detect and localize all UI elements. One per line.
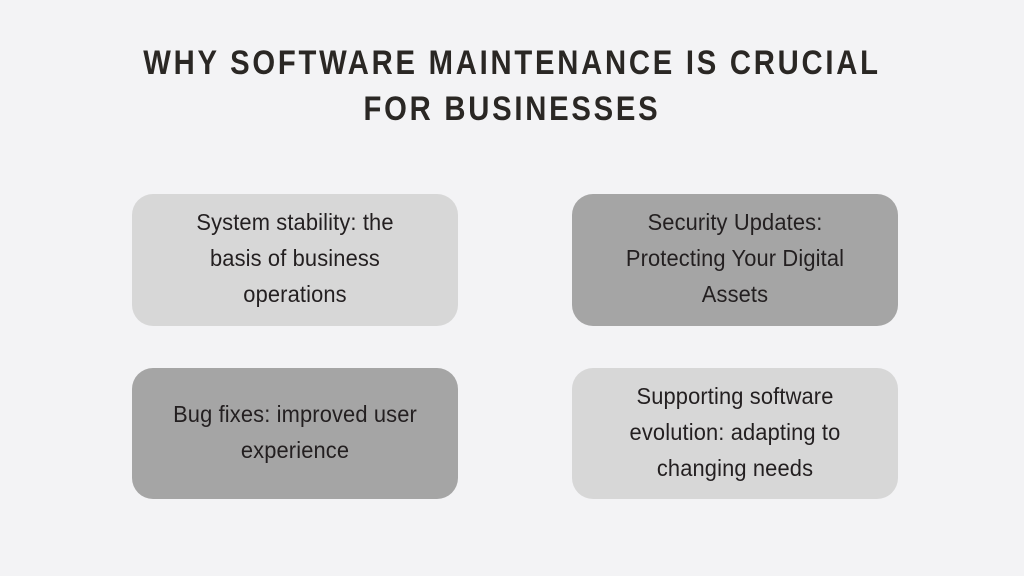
card-system-stability-label: System stability: the basis of business …: [168, 204, 423, 312]
card-grid: System stability: the basis of business …: [132, 194, 898, 499]
card-software-evolution[interactable]: Supporting software evolution: adapting …: [572, 368, 898, 499]
card-security-updates[interactable]: Security Updates: Protecting Your Digita…: [572, 194, 898, 326]
card-bug-fixes-label: Bug fixes: improved user experience: [168, 396, 423, 468]
card-system-stability[interactable]: System stability: the basis of business …: [132, 194, 458, 326]
page-title-line-1: WHY SOFTWARE MAINTENANCE IS CRUCIAL: [72, 40, 953, 86]
slide-canvas: WHY SOFTWARE MAINTENANCE IS CRUCIAL FOR …: [0, 0, 1024, 576]
card-security-updates-label: Security Updates: Protecting Your Digita…: [608, 204, 863, 312]
page-title: WHY SOFTWARE MAINTENANCE IS CRUCIAL FOR …: [0, 40, 1024, 132]
card-software-evolution-label: Supporting software evolution: adapting …: [608, 378, 863, 486]
page-title-line-2: FOR BUSINESSES: [72, 86, 953, 132]
card-bug-fixes[interactable]: Bug fixes: improved user experience: [132, 368, 458, 499]
